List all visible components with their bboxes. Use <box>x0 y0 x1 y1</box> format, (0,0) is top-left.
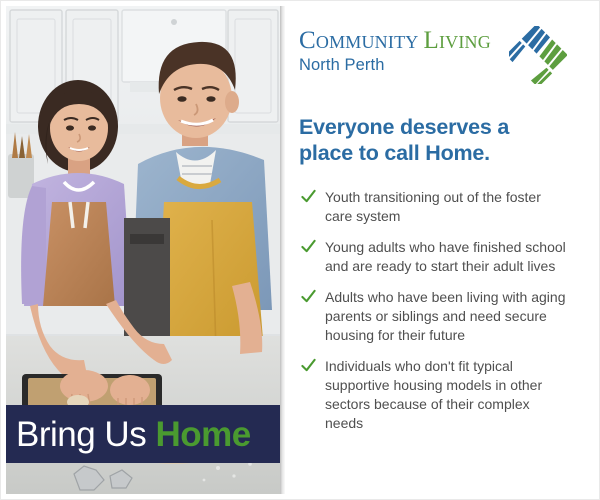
diamond-rays-logo-mark <box>509 26 567 84</box>
logo-wordmark: CommunityLiving North Perth <box>299 28 529 75</box>
banner-text-group: Bring Us Home <box>6 417 251 452</box>
logo-word-living: Living <box>423 27 490 54</box>
list-item-label: Individuals who don't fit typical suppor… <box>325 358 542 431</box>
list-item: Adults who have been living with aging p… <box>299 288 567 345</box>
headline-line-1: Everyone deserves a <box>299 114 561 140</box>
check-icon <box>301 189 316 204</box>
logo-word-community: Community <box>299 27 418 54</box>
logo-subtitle: North Perth <box>299 56 529 75</box>
banner-text-white: Bring Us <box>16 415 146 454</box>
list-item: Youth transitioning out of the foster ca… <box>299 188 567 226</box>
page-title: Everyone deserves a place to call Home. <box>299 114 561 166</box>
headline-line-2: place to call Home. <box>299 140 561 166</box>
list-item-label: Young adults who have finished school an… <box>325 239 566 274</box>
check-icon <box>301 358 316 373</box>
list-item: Young adults who have finished school an… <box>299 238 567 276</box>
bring-us-home-banner: Bring Us Home <box>6 405 280 463</box>
logo-line-primary: CommunityLiving <box>299 28 529 54</box>
check-icon <box>301 239 316 254</box>
check-icon <box>301 289 316 304</box>
list-item: Individuals who don't fit typical suppor… <box>299 357 567 433</box>
eligibility-list: Youth transitioning out of the foster ca… <box>299 188 567 445</box>
content-panel: CommunityLiving North Perth <box>285 6 578 494</box>
list-item-label: Adults who have been living with aging p… <box>325 289 566 343</box>
poster-root: Bring Us Home CommunityLiving North Pert… <box>0 0 600 500</box>
organization-logo: CommunityLiving North Perth <box>299 28 567 90</box>
banner-text-green: Home <box>155 415 250 454</box>
list-item-label: Youth transitioning out of the foster ca… <box>325 189 541 224</box>
